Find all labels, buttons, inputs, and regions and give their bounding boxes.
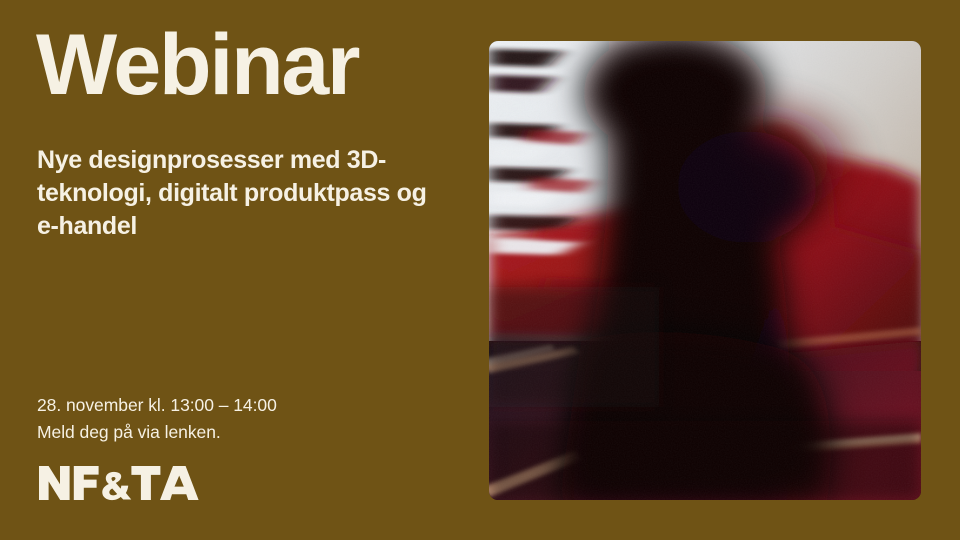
text-column: Webinar Nye designprosesser med 3D-tekno… [36,0,456,540]
event-details: 28. november kl. 13:00 – 14:00 Meld deg … [37,392,437,446]
webinar-hero-image [489,41,921,500]
webinar-subtitle: Nye designprosesser med 3D-teknologi, di… [37,144,427,243]
page-title: Webinar [36,22,358,108]
event-datetime: 28. november kl. 13:00 – 14:00 [37,392,437,419]
registration-note: Meld deg på via lenken. [37,419,437,446]
nfta-logo [36,461,216,505]
webinar-poster: Webinar Nye designprosesser med 3D-tekno… [0,0,960,540]
